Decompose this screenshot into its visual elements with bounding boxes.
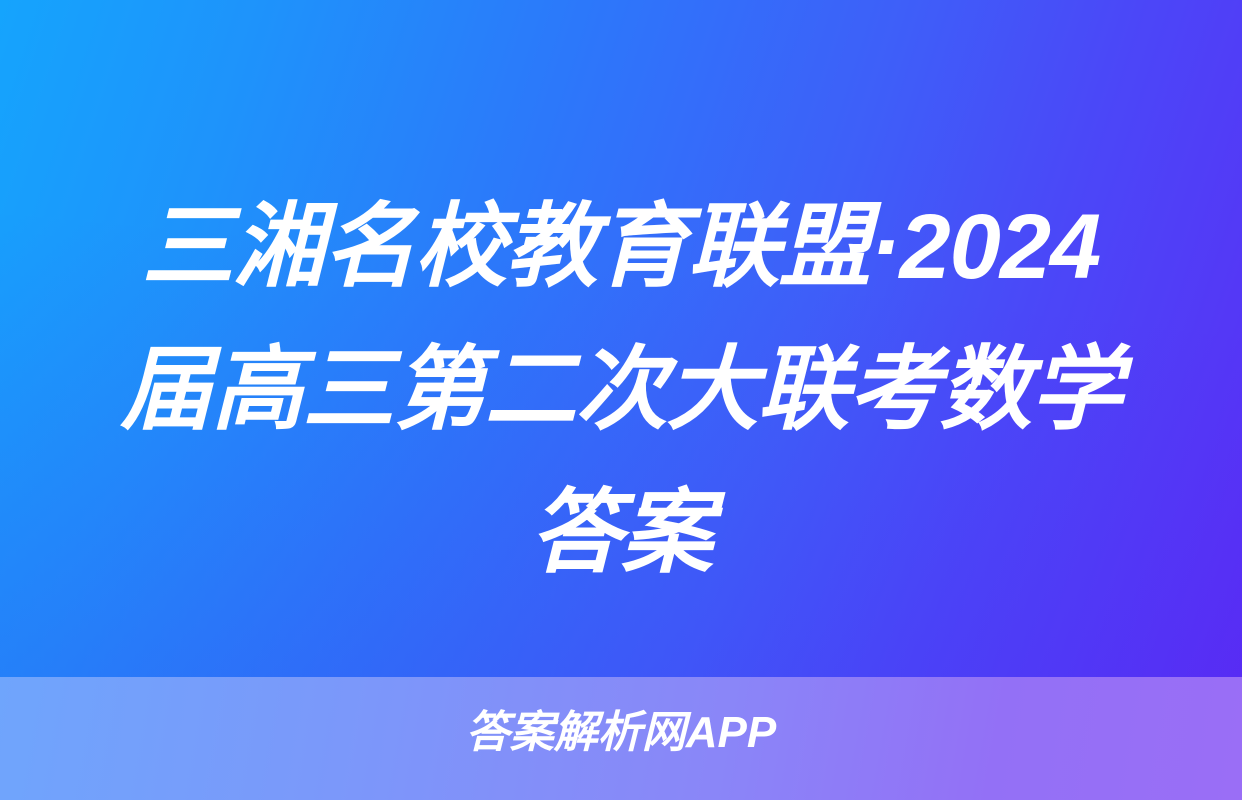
watermark-label: 答案解析网APP: [0, 703, 1242, 763]
watermark-band: 答案解析网APP: [0, 677, 1242, 800]
hero-gradient-panel: 三湘名校教育联盟·2024 届高三第二次大联考数学 答案: [0, 0, 1242, 677]
poster-canvas: 三湘名校教育联盟·2024 届高三第二次大联考数学 答案 答案解析网APP: [0, 0, 1242, 800]
poster-title-line-3: 答案: [72, 462, 1170, 605]
poster-title-line-2: 届高三第二次大联考数学: [72, 319, 1170, 462]
poster-title: 三湘名校教育联盟·2024 届高三第二次大联考数学 答案: [0, 176, 1242, 605]
poster-title-line-1: 三湘名校教育联盟·2024: [72, 176, 1170, 319]
